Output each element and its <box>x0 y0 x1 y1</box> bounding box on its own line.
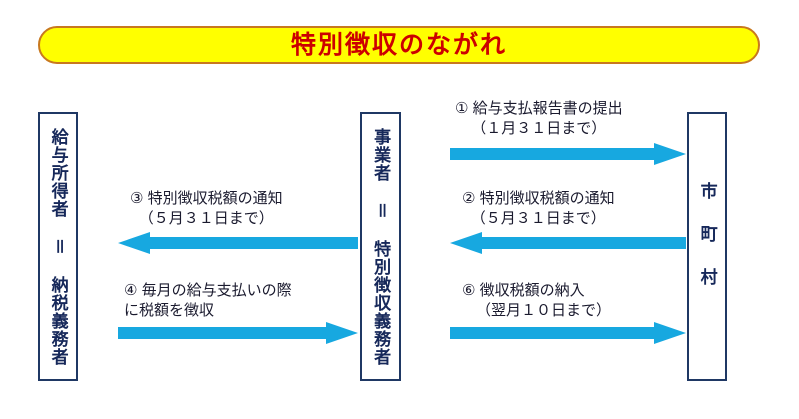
actor-box-salary-earner: 給与所得者 ＝ 納税義務者 <box>38 112 78 381</box>
flow-label-6-line1: ⑥ 徴収税額の納入 <box>462 281 611 301</box>
flow-arrow-6-right <box>450 322 686 344</box>
flow-arrow-3-left <box>118 232 358 254</box>
flow-label-4: ④ 毎月の給与支払いの際 に税額を徴収 <box>124 281 292 321</box>
flow-label-3-line2: （５月３１日まで） <box>130 209 283 229</box>
flow-label-1-line2: （１月３１日まで） <box>455 119 623 139</box>
flow-label-4-line1: ④ 毎月の給与支払いの際 <box>124 281 292 301</box>
flow-label-3-line1: ③ 特別徴収税額の通知 <box>130 189 283 209</box>
diagram-title-banner: 特別徴収のながれ <box>38 26 760 64</box>
flow-label-1: ① 給与支払報告書の提出 （１月３１日まで） <box>455 99 623 139</box>
actor-label-business-operator: 事業者 ＝ 特別徴収義務者 <box>372 128 389 366</box>
actor-label-salary-earner: 給与所得者 ＝ 納税義務者 <box>49 128 66 366</box>
actor-label-municipality: 市町村 <box>698 182 715 311</box>
special-collection-flow-diagram: 特別徴収のながれ 給与所得者 ＝ 納税義務者 事業者 ＝ 特別徴収義務者 市町村… <box>0 0 799 419</box>
diagram-title-text: 特別徴収のながれ <box>291 33 507 58</box>
flow-label-2-line2: （５月３１日まで） <box>462 209 615 229</box>
flow-label-4-line2: に税額を徴収 <box>124 301 292 321</box>
flow-arrow-2-left <box>450 232 686 254</box>
actor-box-municipality: 市町村 <box>687 112 727 381</box>
flow-label-6: ⑥ 徴収税額の納入 （翌月１０日まで） <box>462 281 611 321</box>
actor-box-business-operator: 事業者 ＝ 特別徴収義務者 <box>360 112 401 381</box>
flow-label-6-line2: （翌月１０日まで） <box>462 301 611 321</box>
flow-label-3: ③ 特別徴収税額の通知 （５月３１日まで） <box>130 189 283 229</box>
flow-label-1-line1: ① 給与支払報告書の提出 <box>455 99 623 119</box>
flow-label-2-line1: ② 特別徴収税額の通知 <box>462 189 615 209</box>
flow-arrow-1-right <box>450 143 686 165</box>
flow-arrow-4-right <box>118 322 358 344</box>
flow-label-2: ② 特別徴収税額の通知 （５月３１日まで） <box>462 189 615 229</box>
